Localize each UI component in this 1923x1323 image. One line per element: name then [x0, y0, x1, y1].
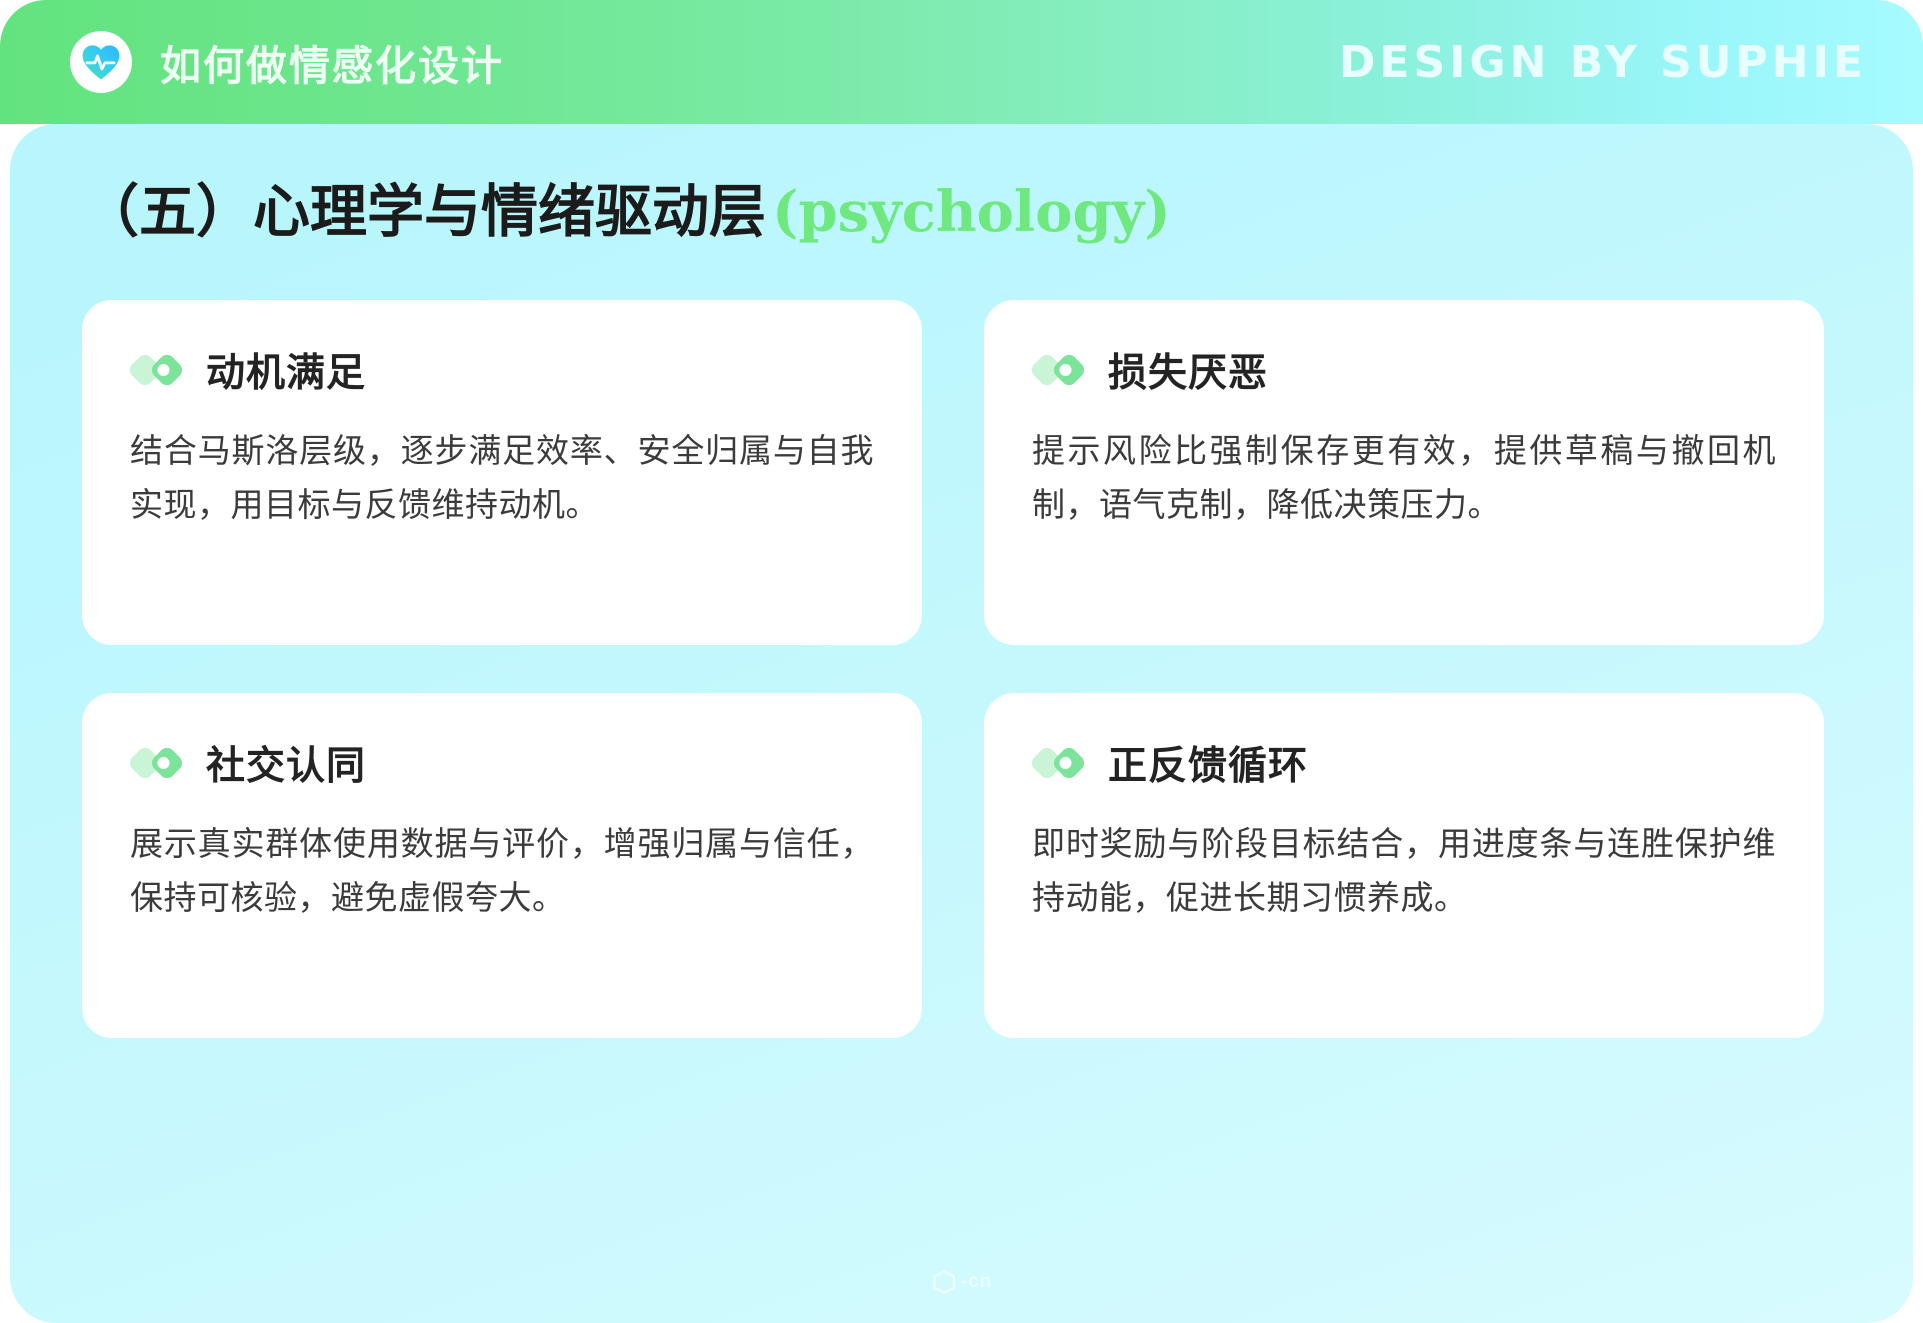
card-body: 结合马斯洛层级，逐步满足效率、安全归属与自我实现，用目标与反馈维持动机。: [130, 424, 874, 531]
content-panel: （五）心理学与情绪驱动层(psychology) 动机满足 结合马斯洛层级，逐步…: [10, 124, 1913, 1323]
watermark-text: -cn: [961, 1271, 993, 1293]
card-body: 即时奖励与阶段目标结合，用进度条与连胜保护维持动能，促进长期习惯养成。: [1032, 817, 1776, 924]
double-diamond-icon: [1032, 737, 1084, 789]
card-social-proof[interactable]: 社交认同 展示真实群体使用数据与评价，增强归属与信任，保持可核验，避免虚假夸大。: [82, 693, 922, 1038]
double-diamond-icon: [1032, 344, 1084, 396]
header-title: 如何做情感化设计: [160, 32, 504, 92]
card-title: 社交认同: [206, 735, 366, 791]
card-positive-feedback-loop[interactable]: 正反馈循环 即时奖励与阶段目标结合，用进度条与连胜保护维持动能，促进长期习惯养成…: [984, 693, 1824, 1038]
slide-header: 如何做情感化设计 DESIGN BY SUPHIE: [0, 0, 1923, 124]
card-title: 正反馈循环: [1108, 735, 1308, 791]
page-title-en: (psychology): [772, 179, 1171, 245]
page-title: （五）心理学与情绪驱动层(psychology): [82, 178, 1841, 246]
card-body: 提示风险比强制保存更有效，提供草稿与撤回机制，语气克制，降低决策压力。: [1032, 424, 1776, 531]
slide-canvas: 如何做情感化设计 DESIGN BY SUPHIE （五）心理学与情绪驱动层(p…: [0, 0, 1923, 1323]
card-header: 社交认同: [130, 735, 874, 791]
header-brand-left: 如何做情感化设计: [70, 31, 504, 93]
double-diamond-icon: [130, 344, 182, 396]
card-motivation[interactable]: 动机满足 结合马斯洛层级，逐步满足效率、安全归属与自我实现，用目标与反馈维持动机…: [82, 300, 922, 645]
heart-pulse-icon: [80, 41, 122, 83]
ui-hex-icon: [931, 1269, 957, 1295]
card-title: 动机满足: [206, 342, 366, 398]
double-diamond-icon: [130, 737, 182, 789]
card-loss-aversion[interactable]: 损失厌恶 提示风险比强制保存更有效，提供草稿与撤回机制，语气克制，降低决策压力。: [984, 300, 1824, 645]
card-header: 动机满足: [130, 342, 874, 398]
logo-badge: [70, 31, 132, 93]
card-header: 正反馈循环: [1032, 735, 1776, 791]
header-brand-right: DESIGN BY SUPHIE: [1339, 37, 1867, 88]
card-body: 展示真实群体使用数据与评价，增强归属与信任，保持可核验，避免虚假夸大。: [130, 817, 874, 924]
card-title: 损失厌恶: [1108, 342, 1268, 398]
card-grid: 动机满足 结合马斯洛层级，逐步满足效率、安全归属与自我实现，用目标与反馈维持动机…: [82, 300, 1841, 1038]
watermark: -cn: [931, 1269, 993, 1295]
card-header: 损失厌恶: [1032, 342, 1776, 398]
page-title-cn: （五）心理学与情绪驱动层: [82, 180, 766, 244]
